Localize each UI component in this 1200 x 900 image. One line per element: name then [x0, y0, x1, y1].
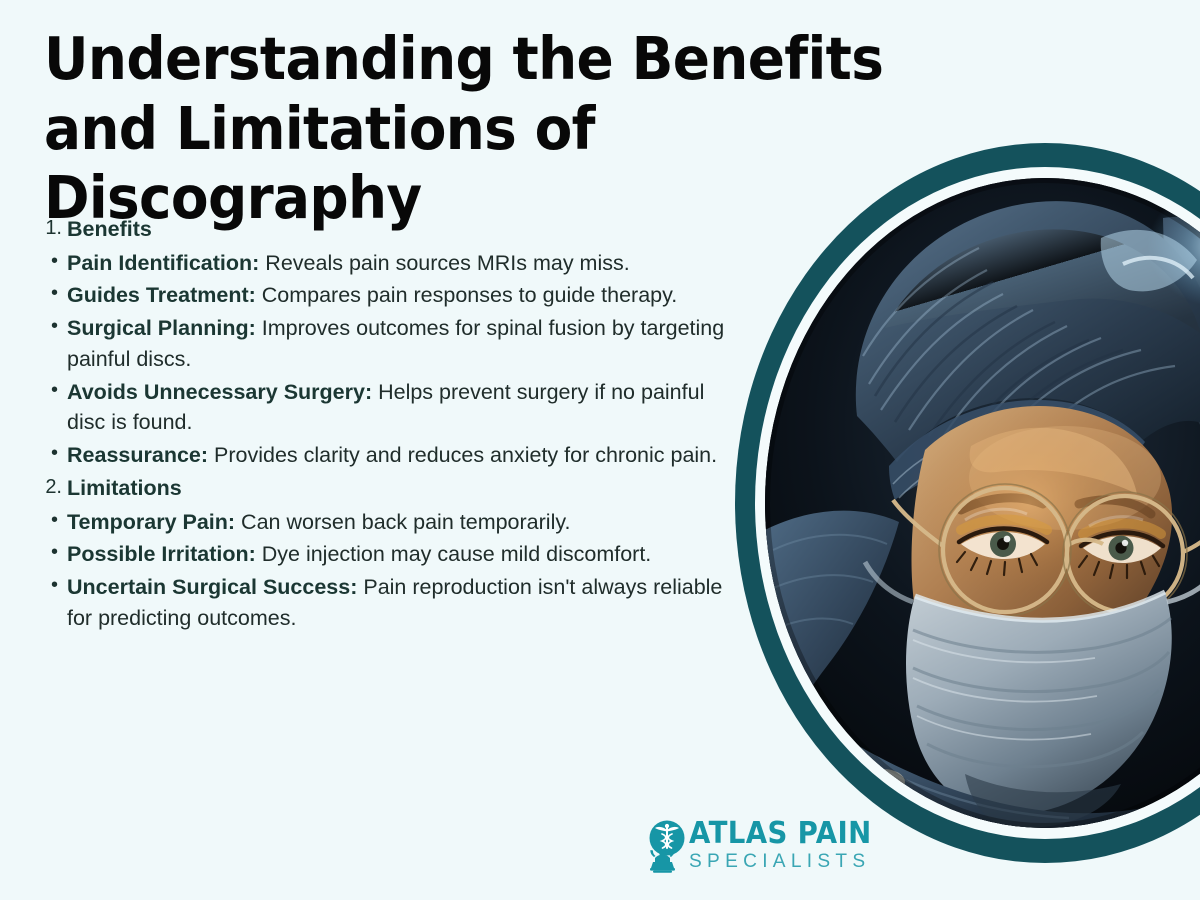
list-item-lead: Guides Treatment: [67, 283, 256, 307]
list-item: • Guides Treatment: Compares pain respon… [34, 280, 734, 311]
list-item: 2. Limitations [34, 473, 734, 504]
bullet-icon: • [34, 313, 67, 341]
bullet-icon: • [34, 377, 67, 405]
list-item-text: Guides Treatment: Compares pain response… [67, 280, 734, 311]
atlas-pain-specialists-logo[interactable]: ATLAS PAIN SPECIALISTS [641, 818, 887, 874]
list-item-lead: Possible Irritation: [67, 542, 256, 566]
teal-ring-outer [735, 143, 1200, 863]
list-item-text: Reassurance: Provides clarity and reduce… [67, 440, 734, 471]
caduceus-atlas-globe-icon [641, 818, 691, 874]
list-item: • Uncertain Surgical Success: Pain repro… [34, 572, 734, 633]
list-item-text: Temporary Pain: Can worsen back pain tem… [67, 507, 734, 538]
list-item-lead: Reassurance: [67, 443, 208, 467]
logo-primary-name: ATLAS PAIN [689, 819, 872, 849]
list-item: • Pain Identification: Reveals pain sour… [34, 248, 734, 279]
list-item: • Surgical Planning: Improves outcomes f… [34, 313, 734, 374]
logo-secondary-name: SPECIALISTS [689, 850, 883, 872]
list-item-lead: Temporary Pain: [67, 510, 235, 534]
list-item-lead: Limitations [67, 476, 182, 500]
bullet-icon: • [34, 539, 67, 567]
list-item-lead: Surgical Planning: [67, 316, 256, 340]
benefits-limitations-list: 1. Benefits • Pain Identification: Revea… [34, 214, 734, 636]
bullet-icon: • [34, 248, 67, 276]
list-marker: 2. [34, 473, 67, 502]
list-item-lead: Pain Identification: [67, 251, 259, 275]
list-item-text: Benefits [67, 214, 734, 245]
list-item: • Temporary Pain: Can worsen back pain t… [34, 507, 734, 538]
list-item-text: Limitations [67, 473, 734, 504]
bullet-icon: • [34, 572, 67, 600]
list-item-lead: Avoids Unnecessary Surgery: [67, 380, 372, 404]
surgeon-photo-illustration [765, 178, 1200, 828]
list-item-body: Reveals pain sources MRIs may miss. [259, 251, 629, 275]
list-item: • Avoids Unnecessary Surgery: Helps prev… [34, 377, 734, 438]
page-title: Understanding the Benefits and Limitatio… [44, 24, 900, 233]
bullet-icon: • [34, 280, 67, 308]
list-item-body: Provides clarity and reduces anxiety for… [208, 443, 717, 467]
logo-wordmark: ATLAS PAIN SPECIALISTS [689, 819, 887, 872]
infographic-canvas: Understanding the Benefits and Limitatio… [0, 0, 1200, 900]
list-item-body: Can worsen back pain temporarily. [235, 510, 570, 534]
list-item-text: Possible Irritation: Dye injection may c… [67, 539, 734, 570]
bullet-icon: • [34, 440, 67, 468]
list-item-text: Uncertain Surgical Success: Pain reprodu… [67, 572, 734, 633]
photo-cluster [735, 143, 1200, 863]
white-ring-gap [755, 167, 1200, 839]
list-item: • Possible Irritation: Dye injection may… [34, 539, 734, 570]
list-marker: 1. [34, 214, 67, 243]
list-item: • Reassurance: Provides clarity and redu… [34, 440, 734, 471]
list-item-lead: Benefits [67, 217, 152, 241]
list-item-lead: Uncertain Surgical Success: [67, 575, 357, 599]
bullet-icon: • [34, 507, 67, 535]
list-item-text: Avoids Unnecessary Surgery: Helps preven… [67, 377, 734, 438]
list-item-body: Compares pain responses to guide therapy… [256, 283, 678, 307]
list-item: 1. Benefits [34, 214, 734, 245]
list-item-text: Pain Identification: Reveals pain source… [67, 248, 734, 279]
surgeon-photo [765, 178, 1200, 828]
list-item-body: Dye injection may cause mild discomfort. [256, 542, 652, 566]
list-item-text: Surgical Planning: Improves outcomes for… [67, 313, 734, 374]
